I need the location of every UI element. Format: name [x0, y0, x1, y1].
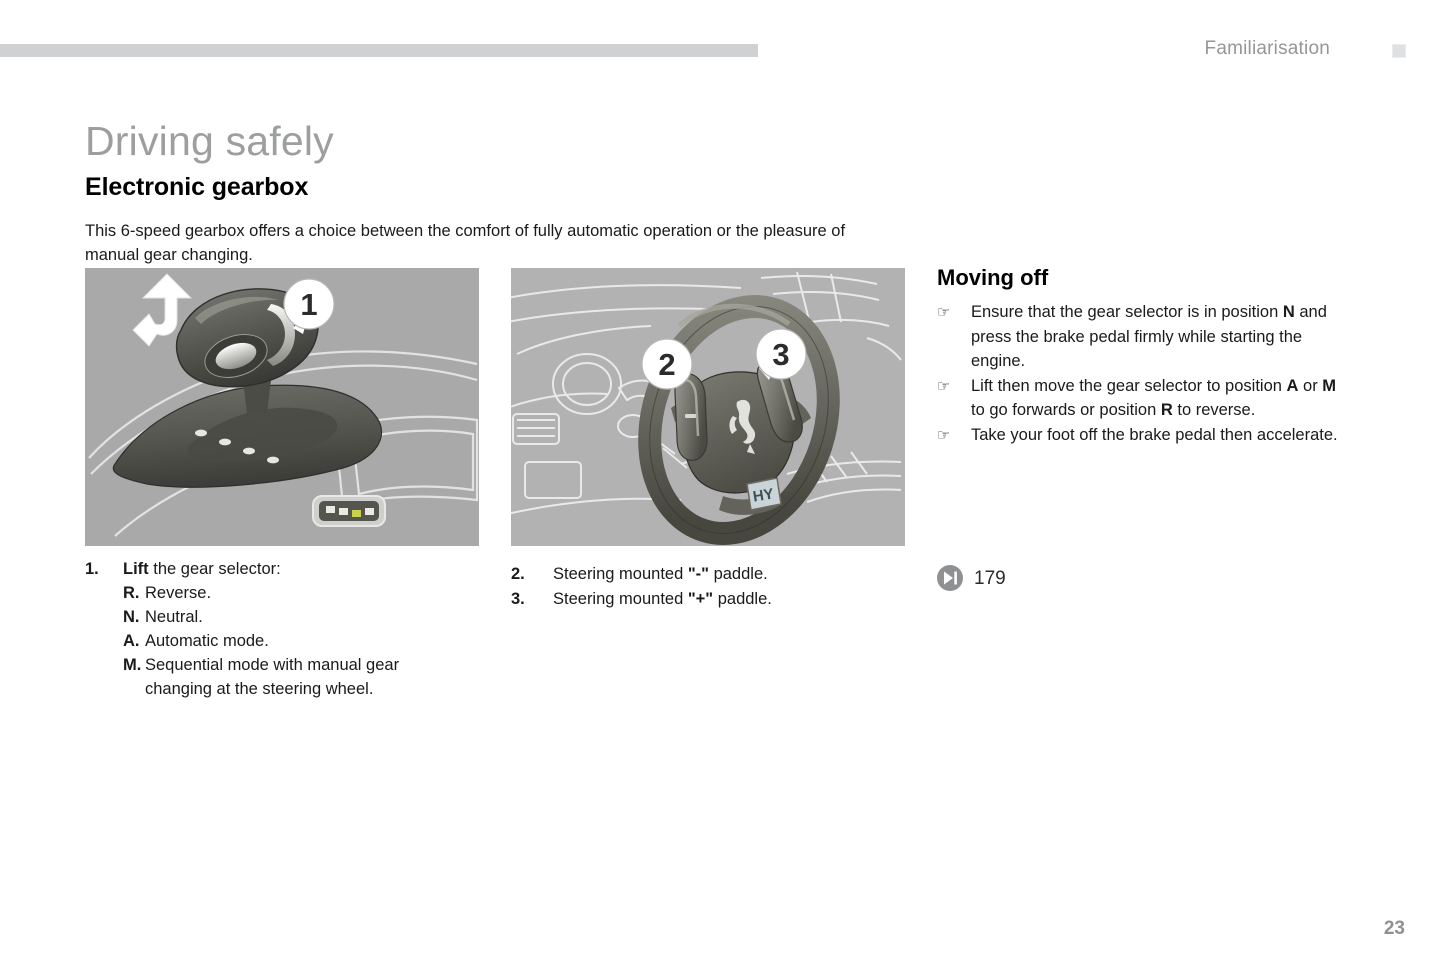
gear-label-m: Sequential mode with manual gear: [145, 653, 485, 677]
svg-text:2: 2: [658, 347, 675, 382]
gear-label-a: Automatic mode.: [145, 629, 485, 653]
gear-position-row: R. Reverse.: [85, 581, 485, 605]
moving-off-bullet: ☞ Take your foot off the brake pedal the…: [937, 423, 1347, 448]
caption-item-number: 1.: [85, 557, 123, 581]
svg-text:3: 3: [772, 337, 789, 372]
page-number: 23: [1384, 918, 1405, 940]
svg-text:HY: HY: [752, 486, 775, 506]
steering-wheel-svg: HY 2 3: [511, 268, 905, 546]
skip-forward-icon[interactable]: [937, 565, 963, 591]
caption-item-number: 3.: [511, 587, 553, 612]
page-title: Electronic gearbox: [85, 175, 308, 200]
pointing-hand-icon: ☞: [937, 423, 971, 448]
moving-off-bullet: ☞ Ensure that the gear selector is in po…: [937, 300, 1347, 374]
moving-off-bullet: ☞ Lift then move the gear selector to po…: [937, 374, 1347, 423]
paddle-plus-post: paddle.: [713, 590, 772, 608]
page-reference[interactable]: 179: [937, 565, 1006, 591]
caption-gear-selector: 1. Lift the gear selector: R. Reverse. N…: [85, 557, 485, 701]
header-rule: [0, 44, 758, 57]
gear-position-row: N. Neutral.: [85, 605, 485, 629]
steering-wheel-illustration: HY 2 3: [511, 268, 905, 546]
gear-letter-a: A.: [123, 629, 145, 653]
gear-selector-svg: 1: [85, 268, 479, 546]
caption-lead-text: Lift the gear selector:: [123, 557, 485, 581]
paddle-minus-pre: Steering mounted: [553, 565, 688, 583]
gear-letter-n: N.: [123, 605, 145, 629]
moving-off-bullet-text: Take your foot off the brake pedal then …: [971, 423, 1347, 448]
paddle-plus-symbol: "+": [688, 590, 713, 608]
caption-lead-rest: the gear selector:: [149, 560, 281, 578]
gear-letter-m: M.: [123, 653, 145, 677]
caption-lead-row: 1. Lift the gear selector:: [85, 557, 485, 581]
moving-off-heading: Moving off: [937, 266, 1347, 290]
gear-label-r: Reverse.: [145, 581, 485, 605]
paddle-minus-text: Steering mounted "-" paddle.: [553, 562, 911, 587]
moving-off-bullet-text: Ensure that the gear selector is in posi…: [971, 300, 1347, 374]
gear-position-row: M. Sequential mode with manual gear: [85, 653, 485, 677]
paddle-plus-pre: Steering mounted: [553, 590, 688, 608]
moving-off-bullet-text: Lift then move the gear selector to posi…: [971, 374, 1347, 423]
gear-label-n: Neutral.: [145, 605, 485, 629]
gear-position-row: A. Automatic mode.: [85, 629, 485, 653]
paddle-caption-row: 2. Steering mounted "-" paddle.: [511, 562, 911, 587]
gear-label-m-continuation: changing at the steering wheel.: [85, 677, 485, 701]
caption-item-number: 2.: [511, 562, 553, 587]
caption-lead-bold: Lift: [123, 560, 149, 578]
paddle-minus-post: paddle.: [709, 565, 768, 583]
gear-selector-illustration: 1: [85, 268, 479, 546]
intro-paragraph: This 6-speed gearbox offers a choice bet…: [85, 219, 875, 268]
chapter-title: Driving safely: [85, 121, 334, 162]
header-section-label: Familiarisation: [1205, 38, 1330, 60]
gear-letter-r: R.: [123, 581, 145, 605]
pointing-hand-icon: ☞: [937, 374, 971, 399]
svg-text:1: 1: [300, 287, 317, 322]
paddle-plus-text: Steering mounted "+" paddle.: [553, 587, 911, 612]
paddle-minus-symbol: "-": [688, 565, 709, 583]
moving-off-section: Moving off ☞ Ensure that the gear select…: [937, 266, 1347, 447]
paddle-caption-row: 3. Steering mounted "+" paddle.: [511, 587, 911, 612]
pointing-hand-icon: ☞: [937, 300, 971, 325]
page-reference-number: 179: [974, 569, 1006, 588]
caption-steering-paddles: 2. Steering mounted "-" paddle. 3. Steer…: [511, 562, 911, 612]
square-marker-icon: [1392, 44, 1406, 58]
